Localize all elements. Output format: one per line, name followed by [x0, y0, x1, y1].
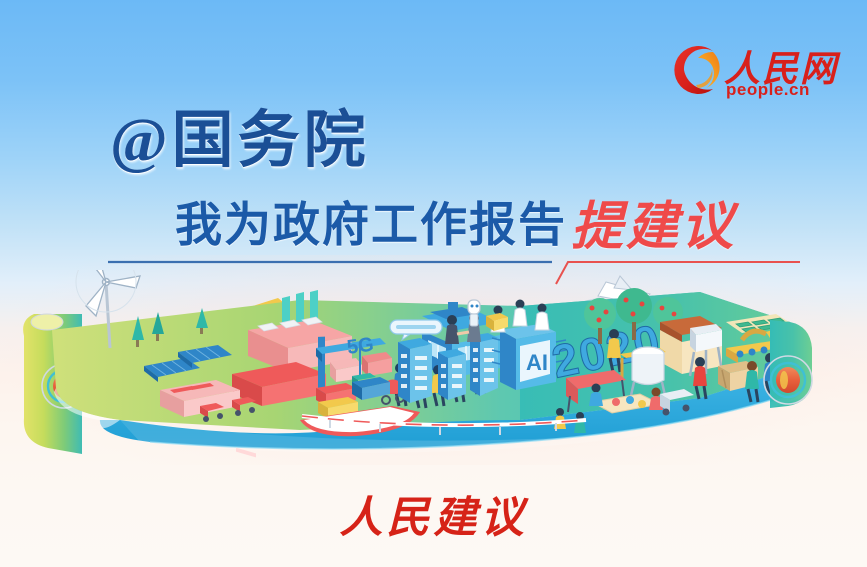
campaign-name: 人民建议: [0, 483, 867, 545]
people-cn-logo[interactable]: 人民网 people.cn: [668, 42, 848, 104]
people-cn-mark-icon: [668, 44, 720, 96]
illustration-band: 5G AI: [0, 270, 867, 470]
svg-text:AI: AI: [526, 350, 548, 375]
robot-icon: [468, 300, 480, 326]
network-5g-label: 5G: [346, 333, 375, 359]
poster-canvas: 人民网 people.cn @国务院 我为政府工作报告 提建议: [0, 0, 867, 567]
page-title: @国务院: [110, 110, 370, 172]
page-subtitle-accent: 提建议: [571, 202, 736, 254]
page-subtitle: 我为政府工作报告: [175, 203, 567, 250]
page-subtitle-group: 我为政府工作报告 提建议: [175, 198, 736, 250]
svg-text:5G: 5G: [346, 333, 375, 359]
isometric-scroll-scene: 5G AI: [0, 270, 867, 470]
logo-latin: people.cn: [726, 80, 810, 100]
